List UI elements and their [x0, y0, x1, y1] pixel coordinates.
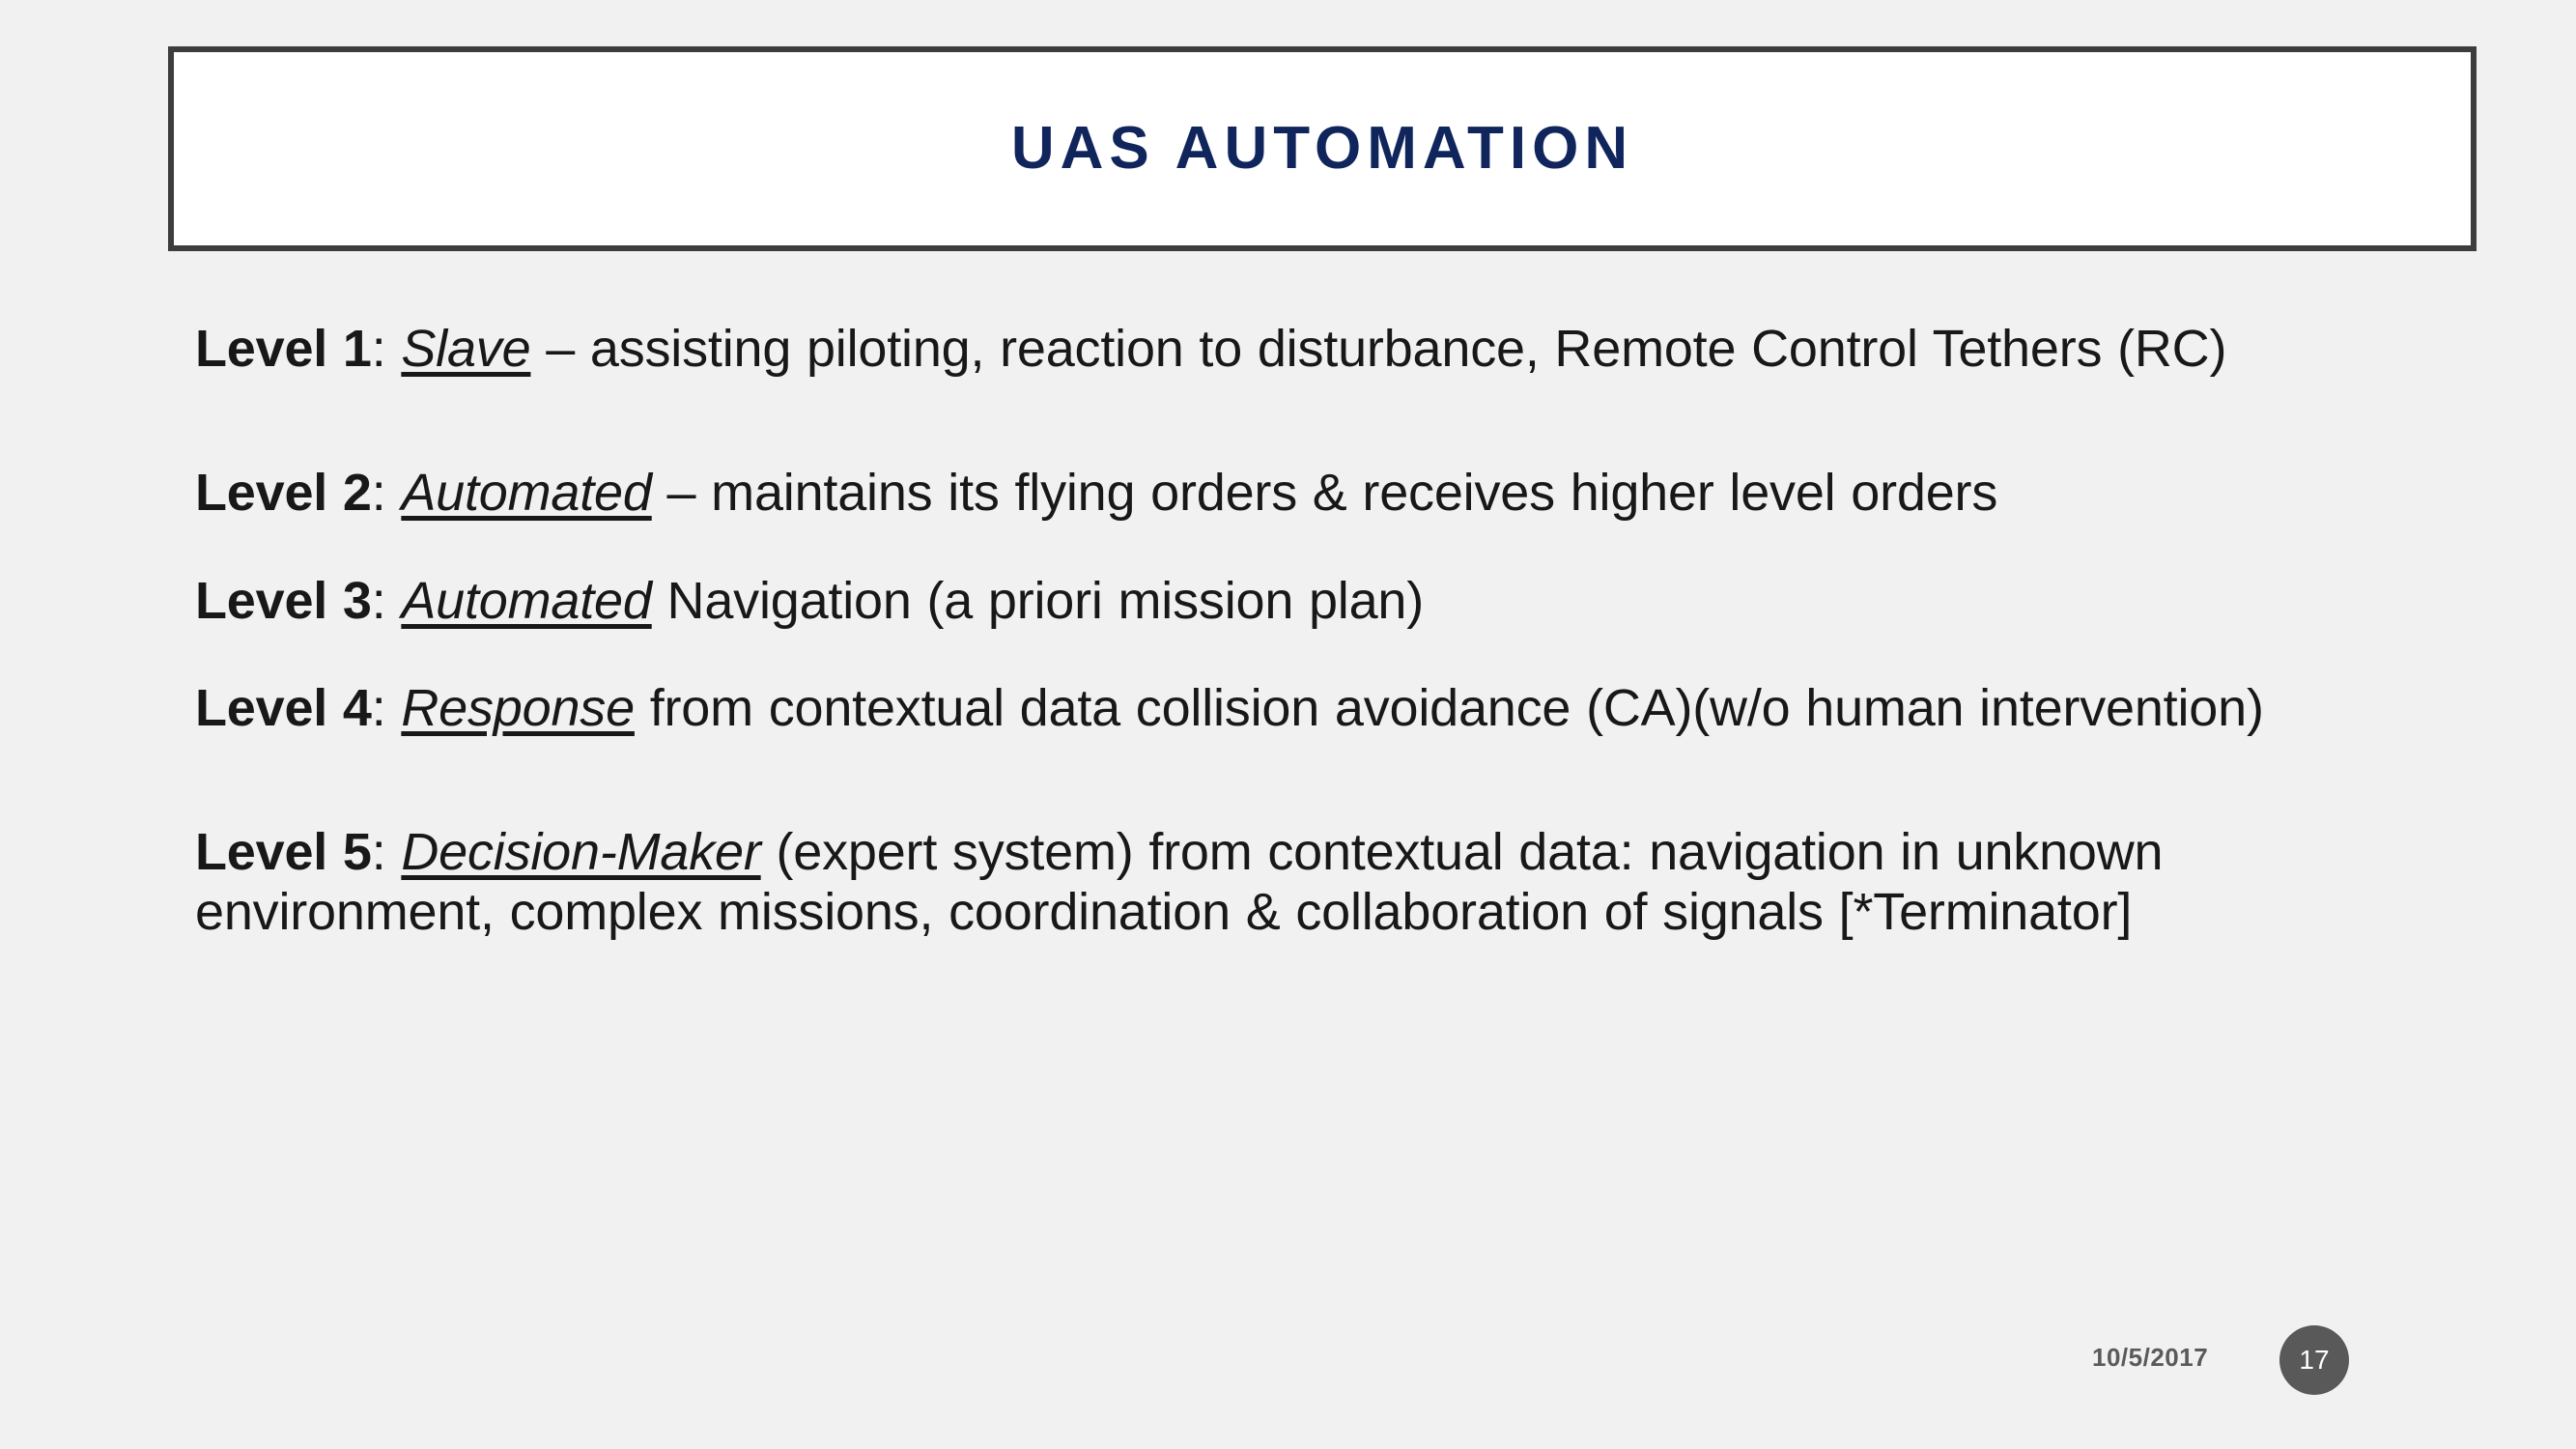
slide-canvas: UAS AUTOMATION Level 1: Slave – assistin… — [0, 0, 2576, 1449]
level-1-label: Level 1 — [195, 320, 372, 378]
body-content: Level 1: Slave – assisting piloting, rea… — [195, 319, 2446, 943]
level-5-label: Level 5 — [195, 823, 372, 881]
level-2-label: Level 2 — [195, 464, 372, 522]
level-1-description: – assisting piloting, reaction to distur… — [530, 320, 2226, 378]
slide-number-badge: 17 — [2279, 1325, 2349, 1395]
paragraph-spacer — [195, 739, 2446, 822]
level-4-label: Level 4 — [195, 679, 372, 737]
level-item-1: Level 1: Slave – assisting piloting, rea… — [195, 319, 2446, 380]
level-2-separator: : — [372, 464, 402, 522]
paragraph-spacer — [195, 523, 2446, 571]
slide-number-text: 17 — [2299, 1347, 2329, 1374]
level-4-description: from contextual data collision avoidance… — [635, 679, 2264, 737]
paragraph-spacer — [195, 380, 2446, 463]
level-5-term: Decision-Maker — [401, 823, 760, 881]
level-3-description: Navigation (a priori mission plan) — [652, 572, 1424, 630]
title-box: UAS AUTOMATION — [168, 46, 2477, 251]
level-1-term: Slave — [401, 320, 530, 378]
level-item-5: Level 5: Decision-Maker (expert system) … — [195, 822, 2446, 943]
level-2-description: – maintains its flying orders & receives… — [652, 464, 1997, 522]
page-title: UAS AUTOMATION — [1011, 116, 1633, 182]
level-3-separator: : — [372, 572, 402, 630]
level-item-4: Level 4: Response from contextual data c… — [195, 678, 2446, 739]
level-item-3: Level 3: Automated Navigation (a priori … — [195, 571, 2446, 632]
level-3-label: Level 3 — [195, 572, 372, 630]
level-4-separator: : — [372, 679, 402, 737]
level-4-term: Response — [401, 679, 635, 737]
level-2-term: Automated — [401, 464, 651, 522]
level-3-term: Automated — [401, 572, 651, 630]
level-5-separator: : — [372, 823, 402, 881]
level-item-2: Level 2: Automated – maintains its flyin… — [195, 463, 2446, 524]
footer-date: 10/5/2017 — [2092, 1343, 2208, 1373]
paragraph-spacer — [195, 632, 2446, 678]
level-1-separator: : — [372, 320, 402, 378]
